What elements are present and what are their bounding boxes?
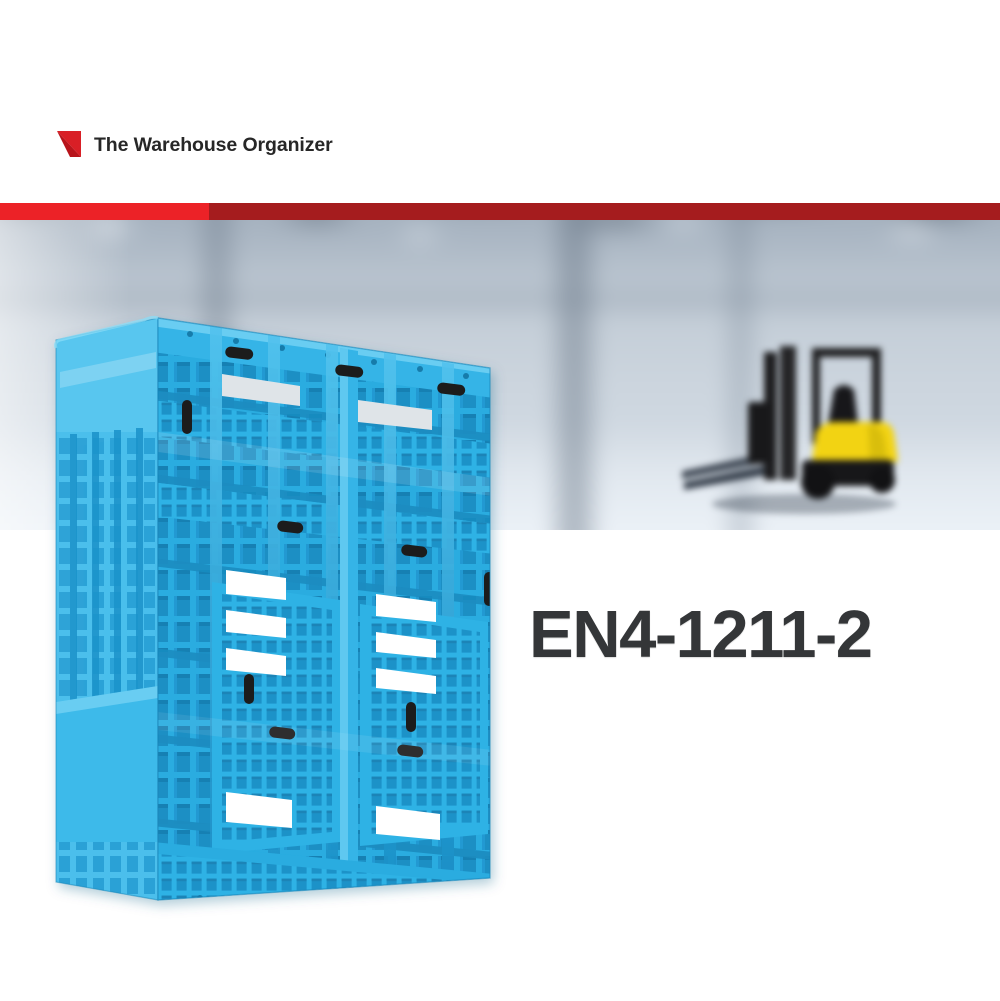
product-image-pallet (40, 282, 510, 942)
brand-name: The Warehouse Organizer (94, 136, 333, 156)
red-triangle-flag-icon (57, 131, 83, 161)
accent-bar (0, 203, 1000, 220)
product-code: EN4-1211-2 (529, 601, 872, 668)
brand-header: The Warehouse Organizer (0, 0, 1000, 203)
brand-logo[interactable]: The Warehouse Organizer (57, 131, 333, 161)
accent-bar-bright-segment (0, 203, 209, 220)
